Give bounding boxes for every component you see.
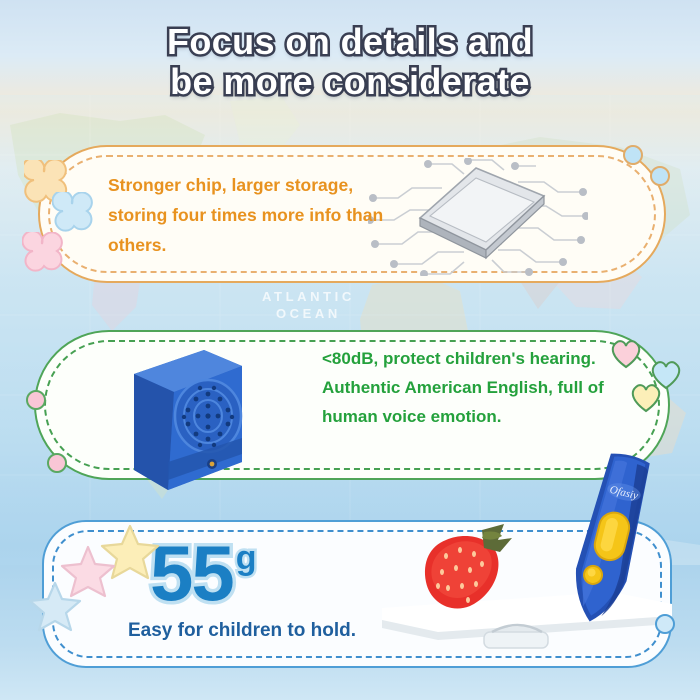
circle-pink-icon-1	[26, 390, 46, 410]
blue-speaker-module-illustration	[108, 344, 268, 494]
map-ocean-label-line1: ATLANTIC	[262, 288, 355, 305]
heart-yellow-icon	[628, 380, 664, 414]
card-chip-text: Stronger chip, larger storage, storing f…	[108, 170, 398, 260]
infographic-canvas: ATLANTIC OCEAN Focus on details and be m…	[0, 0, 700, 700]
card-weight-text: Easy for children to hold.	[92, 620, 392, 642]
weight-unit: g	[236, 538, 257, 578]
page-title-line1: Focus on details and	[0, 22, 700, 62]
weight-value-display: 55 g	[150, 536, 257, 610]
circle-blue-icon-1	[623, 145, 643, 165]
page-title: Focus on details and be more considerate	[0, 22, 700, 102]
flower-pink-icon	[22, 232, 80, 286]
heart-pink-icon	[608, 336, 644, 370]
weight-number: 55	[150, 536, 233, 610]
card-audio-text: <80dB, protect children's hearing. Authe…	[322, 344, 612, 431]
map-ocean-label-line2: OCEAN	[262, 305, 355, 322]
map-ocean-label: ATLANTIC OCEAN	[262, 288, 355, 322]
page-title-line2: be more considerate	[0, 62, 700, 102]
reading-pen-illustration: Ofasiy	[556, 448, 664, 632]
microchip-illustration	[368, 158, 588, 276]
circle-blue-icon-2	[650, 166, 670, 186]
star-blue-icon	[26, 578, 84, 632]
circle-pink-icon-2	[47, 453, 67, 473]
